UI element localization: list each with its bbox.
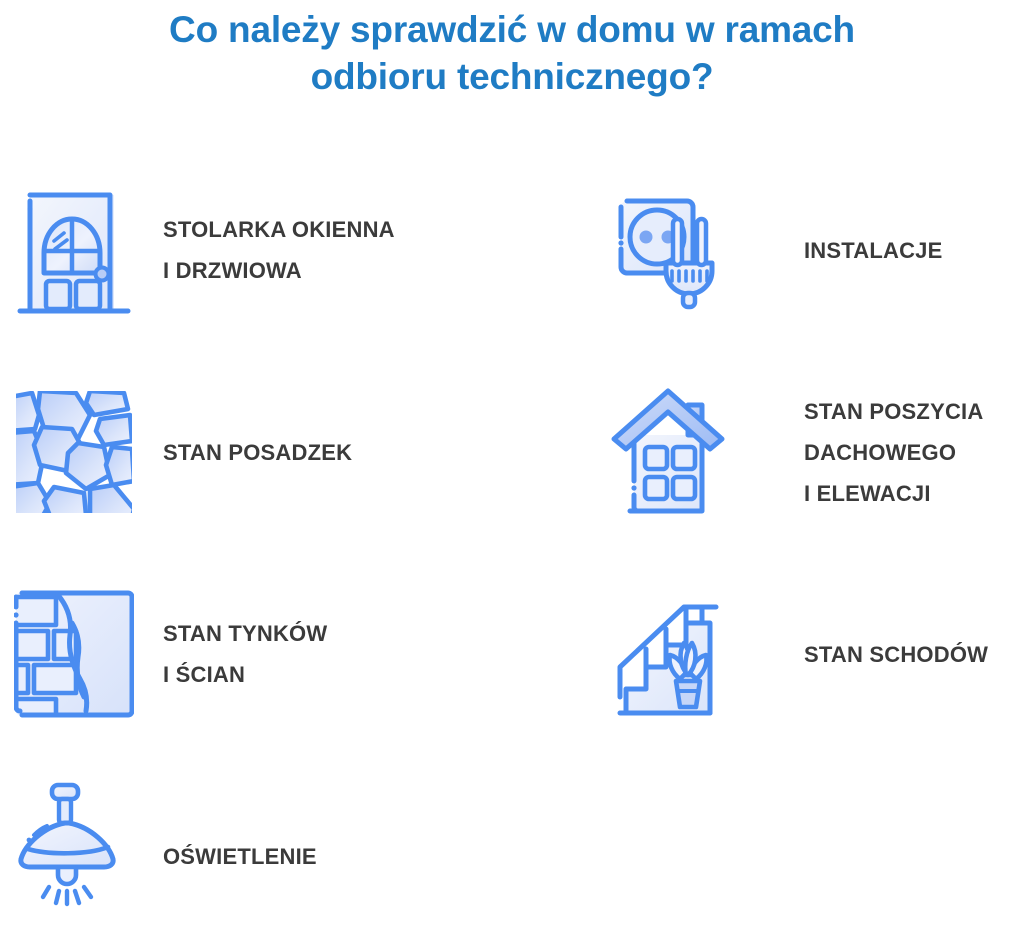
checklist-row: STOLARKA OKIENNA I DRZWIOWA xyxy=(0,170,1024,372)
checklist-row: OŚWIETLENIE xyxy=(0,776,1024,936)
title-line-2: odbioru technicznego? xyxy=(0,53,1024,100)
door-window-icon xyxy=(14,175,134,325)
list-item-label: STAN TYNKÓW I ŚCIAN xyxy=(163,613,327,695)
list-item-label: INSTALACJE xyxy=(804,230,943,271)
pendant-lamp-icon xyxy=(14,781,134,931)
checklist-grid: STOLARKA OKIENNA I DRZWIOWA xyxy=(0,170,1024,936)
infographic-page: Co należy sprawdzić w domu w ramach odbi… xyxy=(0,0,1024,938)
checklist-row: STAN TYNKÓW I ŚCIAN xyxy=(0,574,1024,776)
list-item-label: STOLARKA OKIENNA I DRZWIOWA xyxy=(163,209,395,291)
list-item-schody[interactable]: STAN SCHODÓW xyxy=(608,574,1024,734)
list-item-posadzki[interactable]: STAN POSADZEK xyxy=(14,372,484,532)
staircase-plant-icon xyxy=(608,579,728,729)
list-item-dach[interactable]: STAN POSZYCIA DACHOWEGO I ELEWACJI xyxy=(608,372,1024,532)
list-item-label: STAN SCHODÓW xyxy=(804,634,988,675)
title-line-1: Co należy sprawdzić w domu w ramach xyxy=(0,6,1024,53)
list-item-instalacje[interactable]: INSTALACJE xyxy=(608,170,1024,330)
checklist-row: STAN POSADZEK xyxy=(0,372,1024,574)
brick-wall-plaster-icon xyxy=(14,579,134,729)
list-item-stolarka[interactable]: STOLARKA OKIENNA I DRZWIOWA xyxy=(14,170,484,330)
page-title: Co należy sprawdzić w domu w ramach odbi… xyxy=(0,6,1024,100)
stone-floor-icon xyxy=(14,377,134,527)
house-roof-icon xyxy=(608,377,728,527)
list-item-tynki[interactable]: STAN TYNKÓW I ŚCIAN xyxy=(14,574,484,734)
list-item-label: STAN POSADZEK xyxy=(163,432,352,473)
electrical-socket-plug-icon xyxy=(608,175,728,325)
list-item-label: OŚWIETLENIE xyxy=(163,836,317,877)
list-item-label: STAN POSZYCIA DACHOWEGO I ELEWACJI xyxy=(804,391,983,514)
list-item-oswietlenie[interactable]: OŚWIETLENIE xyxy=(14,776,484,936)
